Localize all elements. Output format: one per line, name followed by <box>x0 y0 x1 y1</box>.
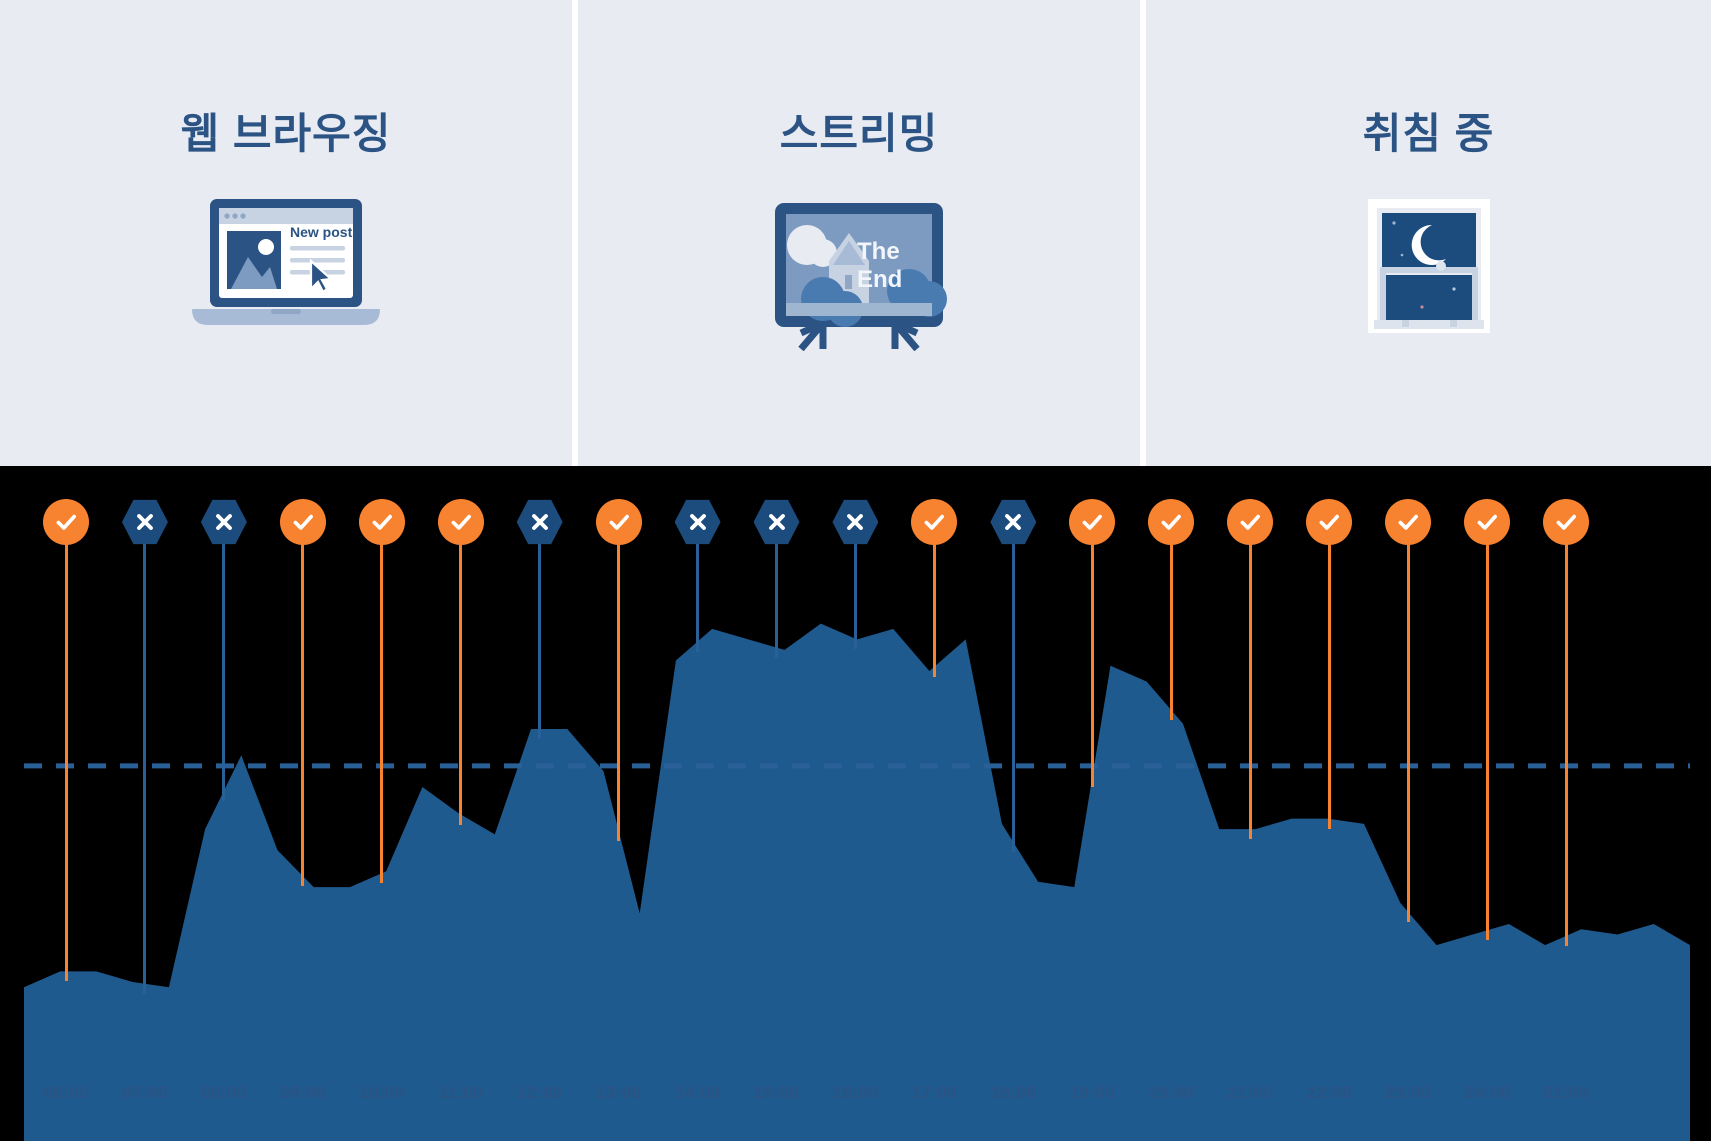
time-axis-label: 13:00 <box>574 1083 664 1103</box>
status-badge-ok[interactable] <box>1069 499 1115 545</box>
time-axis-label: 17:00 <box>889 1083 979 1103</box>
header-panels: 웹 브라우징 New post <box>0 0 1711 466</box>
marker-stem <box>301 534 304 886</box>
status-badge-ok[interactable] <box>1148 499 1194 545</box>
status-badge-ok[interactable] <box>911 499 957 545</box>
marker-stem <box>1012 534 1015 852</box>
tv-the-label: The <box>857 238 900 265</box>
x-icon <box>1000 509 1026 535</box>
time-axis-label: 14:00 <box>653 1083 743 1103</box>
time-axis-label: 23:00 <box>1363 1083 1453 1103</box>
x-icon <box>764 509 790 535</box>
header-panel-streaming[interactable]: 스트리밍 The <box>572 0 1140 466</box>
marker-stem <box>1486 534 1489 940</box>
status-badge-ok[interactable] <box>1543 499 1589 545</box>
time-axis-label: 20:00 <box>1126 1083 1216 1103</box>
panel-title-streaming: 스트리밍 <box>780 100 939 161</box>
status-badge-ok[interactable] <box>1227 499 1273 545</box>
time-axis-label: 06:00 <box>21 1083 111 1103</box>
tv-end-label: End <box>857 266 902 293</box>
status-badge-ok[interactable] <box>596 499 642 545</box>
time-axis-label: 21:00 <box>1205 1083 1295 1103</box>
panel-title-sleeping: 취침 중 <box>1363 100 1495 161</box>
status-badge-blocked[interactable] <box>990 499 1036 545</box>
time-axis-label: 18:00 <box>968 1083 1058 1103</box>
time-axis-label: 15:00 <box>732 1083 822 1103</box>
marker-stem <box>1249 534 1252 839</box>
status-badge-ok[interactable] <box>1464 499 1510 545</box>
marker-stem <box>380 534 383 883</box>
x-icon <box>527 509 553 535</box>
x-icon <box>211 509 237 535</box>
status-badge-blocked[interactable] <box>832 499 878 545</box>
marker-stem <box>65 534 68 981</box>
status-badge-ok[interactable] <box>1385 499 1431 545</box>
time-axis-label: 11:00 <box>416 1083 506 1103</box>
activity-chart-section: 06:0007:0008:0009:0010:0011:0012:0013:00… <box>0 466 1711 1141</box>
status-badge-blocked[interactable] <box>201 499 247 545</box>
status-badge-ok[interactable] <box>359 499 405 545</box>
hourly-status-badges <box>0 466 1711 566</box>
time-axis-label: 12:00 <box>495 1083 585 1103</box>
status-badge-blocked[interactable] <box>675 499 721 545</box>
x-icon <box>842 509 868 535</box>
time-axis-label: 07:00 <box>100 1083 190 1103</box>
marker-stem <box>143 534 146 994</box>
time-axis-label: 08:00 <box>179 1083 269 1103</box>
status-badge-blocked[interactable] <box>122 499 168 545</box>
marker-stem <box>222 534 225 801</box>
night-window-moon-icon <box>1368 199 1490 338</box>
check-icon <box>1316 509 1342 535</box>
check-icon <box>448 509 474 535</box>
activity-dashboard: 웹 브라우징 New post <box>0 0 1711 1141</box>
status-badge-blocked[interactable] <box>754 499 800 545</box>
check-icon <box>1553 509 1579 535</box>
status-badge-ok[interactable] <box>43 499 89 545</box>
status-badge-ok[interactable] <box>280 499 326 545</box>
marker-stem <box>1565 534 1568 946</box>
tv-the-end-icon: The End <box>761 199 957 356</box>
laptop-new-post-icon: New post <box>188 199 384 336</box>
status-badge-ok[interactable] <box>438 499 484 545</box>
check-icon <box>1474 509 1500 535</box>
header-panel-sleeping[interactable]: 취침 중 <box>1140 0 1711 466</box>
time-axis-label: 19:00 <box>1047 1083 1137 1103</box>
check-icon <box>1158 509 1184 535</box>
check-icon <box>290 509 316 535</box>
marker-stem <box>1328 534 1331 829</box>
check-icon <box>1079 509 1105 535</box>
time-axis-label: 09:00 <box>258 1083 348 1103</box>
time-axis: 06:0007:0008:0009:0010:0011:0012:0013:00… <box>0 1061 1711 1141</box>
marker-stem <box>617 534 620 841</box>
check-icon <box>606 509 632 535</box>
panel-title-web-browsing: 웹 브라우징 <box>181 100 392 161</box>
time-axis-label: 24:00 <box>1442 1083 1532 1103</box>
time-axis-label: 22:00 <box>1284 1083 1374 1103</box>
marker-stem <box>1407 534 1410 922</box>
status-badge-blocked[interactable] <box>517 499 563 545</box>
check-icon <box>1395 509 1421 535</box>
x-icon <box>132 509 158 535</box>
check-icon <box>369 509 395 535</box>
marker-stem <box>1091 534 1094 787</box>
check-icon <box>53 509 79 535</box>
check-icon <box>1237 509 1263 535</box>
marker-stems <box>0 466 1711 1141</box>
x-icon <box>685 509 711 535</box>
check-icon <box>921 509 947 535</box>
status-badge-ok[interactable] <box>1306 499 1352 545</box>
time-axis-label: 16:00 <box>810 1083 900 1103</box>
marker-stem <box>459 534 462 825</box>
time-axis-label: 10:00 <box>337 1083 427 1103</box>
time-axis-label: 01:00 <box>1521 1083 1611 1103</box>
header-panel-web-browsing[interactable]: 웹 브라우징 New post <box>0 0 572 466</box>
laptop-new-post-label: New post <box>290 224 353 240</box>
